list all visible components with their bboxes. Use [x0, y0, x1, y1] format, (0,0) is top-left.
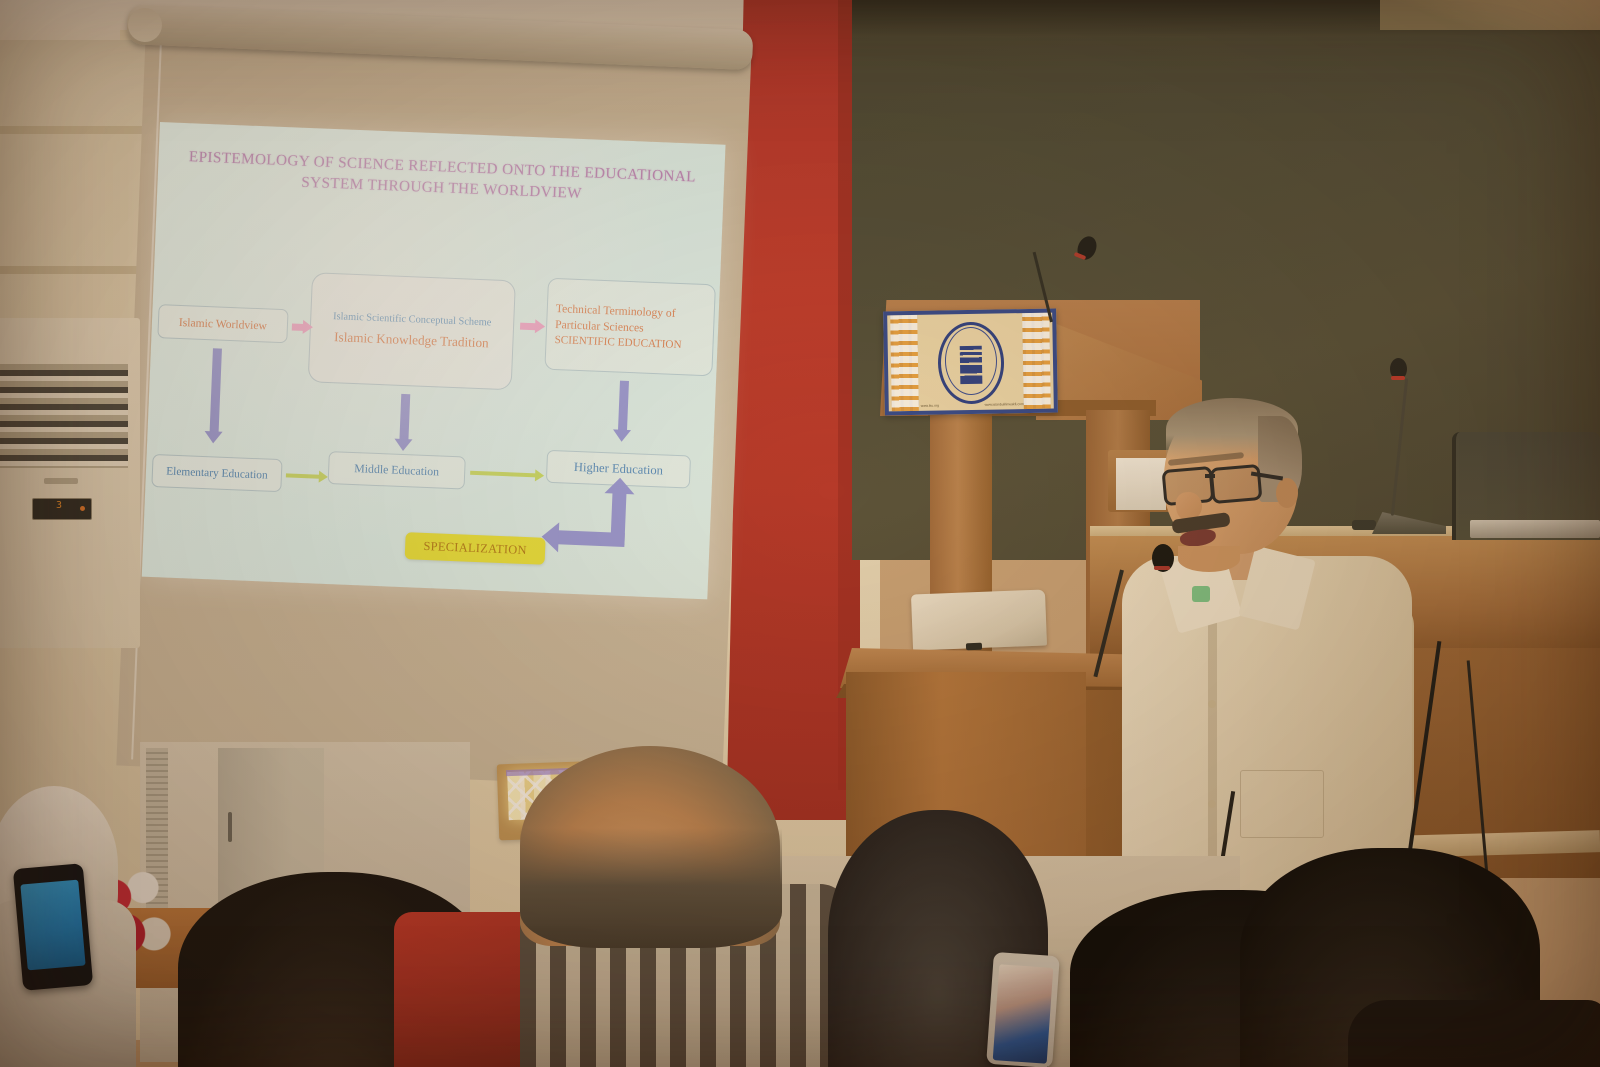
handheld-microphone-indicator-ring	[1154, 566, 1170, 570]
node-elementary-education: Elementary Education	[151, 454, 282, 492]
arrow-worldview-to-scheme	[292, 323, 304, 330]
node-label: SPECIALIZATION	[423, 539, 527, 558]
wall-corner	[1380, 0, 1600, 30]
photo-scene: EPISTEMOLOGY OF SCIENCE REFLECTED ONTO T…	[0, 0, 1600, 1067]
desk-nameplate	[1352, 520, 1376, 530]
node-specialization: SPECIALIZATION	[405, 532, 546, 565]
air-conditioner-brand-logo	[44, 478, 78, 484]
node-label-line-3: SCIENTIFIC EDUCATION	[554, 334, 681, 351]
speaker-lapel-badge	[1192, 586, 1210, 602]
node-islamic-worldview: Islamic Worldview	[157, 304, 288, 343]
arrow-technical-to-higher	[618, 381, 629, 431]
audience-phone-left-screen[interactable]	[20, 880, 85, 971]
tissue-papers	[1116, 458, 1166, 510]
arrow-specialization-elbow-horizontal	[557, 530, 625, 547]
audience-member-bald-hair-fringe	[520, 828, 782, 948]
panel-laptop	[1470, 520, 1600, 538]
desk-microphone-indicator-ring	[1391, 376, 1405, 380]
door-handle[interactable]	[228, 812, 232, 842]
arrow-elementary-to-middle	[286, 473, 320, 478]
node-label-line-1: Islamic Scientific Conceptual Scheme	[333, 311, 492, 328]
ornament-pattern-left	[890, 315, 919, 411]
lectern-laptop-hinge	[966, 643, 982, 651]
sign-url-right: www.istanbulilimvakfi.com	[985, 402, 1024, 407]
node-label: Islamic Worldview	[179, 315, 267, 332]
slide-title: EPISTEMOLOGY OF SCIENCE REFLECTED ONTO T…	[179, 147, 704, 210]
lectern-laptop-lid	[911, 589, 1047, 650]
speaker-chin	[1178, 546, 1240, 572]
eyeglasses-right-lens	[1210, 464, 1263, 504]
audience-phone-right-screen[interactable]	[993, 964, 1054, 1064]
speaker-ear	[1276, 478, 1298, 508]
speaker-shirt-button-lower	[1208, 800, 1216, 808]
air-conditioner-display-value: 3	[56, 500, 62, 511]
audience-member-shoulder	[1348, 1000, 1600, 1067]
ornament-pattern-right	[1022, 313, 1051, 409]
arrow-scheme-to-middle	[399, 394, 410, 440]
node-label-line-2: Islamic Knowledge Tradition	[334, 329, 489, 351]
node-label: Elementary Education	[166, 465, 268, 481]
arrow-middle-to-higher	[470, 471, 536, 478]
node-middle-education: Middle Education	[328, 451, 466, 489]
eyeglasses-bridge	[1205, 474, 1215, 478]
speaker-shirt-pocket	[1240, 770, 1324, 838]
podium-sign: www.iku.org www.istanbulilimvakfi.com	[883, 308, 1058, 415]
arrow-worldview-to-elementary	[210, 348, 222, 432]
speaker-shirt-button-upper	[1208, 700, 1216, 708]
node-technical-terminology: Technical Terminology of Particular Scie…	[544, 278, 716, 377]
arrow-scheme-to-technical	[520, 323, 536, 331]
wall-trim-upper	[0, 126, 160, 134]
projected-slide: EPISTEMOLOGY OF SCIENCE REFLECTED ONTO T…	[142, 122, 726, 599]
sign-url-left: www.iku.org	[921, 404, 939, 408]
node-islamic-scientific-conceptual-scheme: Islamic Scientific Conceptual Scheme Isl…	[308, 272, 516, 390]
emblem-tower-icon	[959, 346, 982, 384]
node-label: Middle Education	[354, 461, 439, 479]
node-label: Higher Education	[574, 460, 664, 479]
air-conditioner-status-led	[80, 506, 85, 511]
air-conditioner-louvers	[0, 364, 128, 468]
node-label-line-2: Particular Sciences	[555, 318, 644, 335]
